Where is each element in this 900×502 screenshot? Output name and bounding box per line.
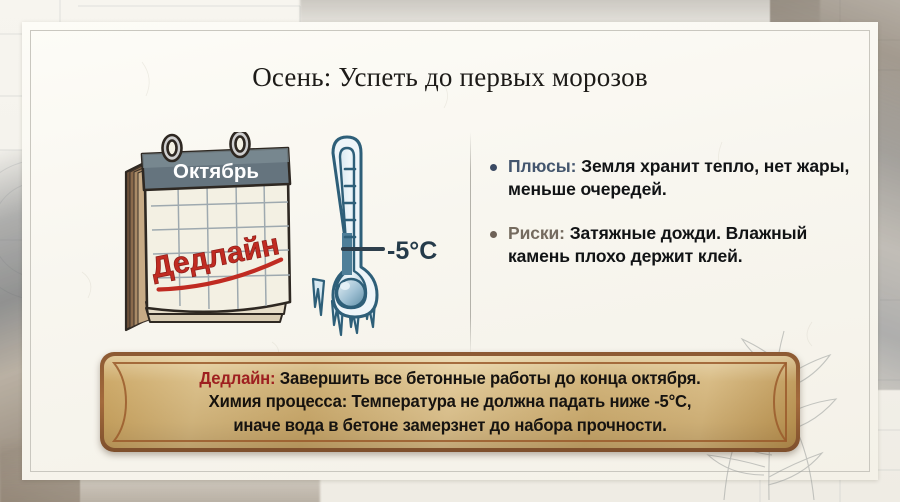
thermometer-illustration: -5°C [297, 129, 437, 339]
slide-stage: Осень: Успеть до первых морозов [0, 0, 900, 502]
plaque-face: Дедлайн: Завершить все бетонные работы д… [104, 356, 796, 448]
info-plaque: Дедлайн: Завершить все бетонные работы д… [100, 352, 800, 452]
plaque-line-3: иначе вода в бетоне замерзнет до набора … [233, 414, 666, 437]
plaque-deadline-label: Дедлайн: [199, 368, 275, 388]
plaque-chemistry-label: Химия процесса: [209, 391, 347, 411]
plaque-chemistry-text: Температура не должна падать ниже -5°C, [351, 391, 691, 411]
page-title: Осень: Успеть до первых морозов [22, 62, 878, 93]
bullet-dot-icon [490, 231, 497, 238]
list-item: Риски: Затяжные дожди. Влажный камень пл… [490, 222, 870, 269]
bullet-dot-icon [490, 164, 497, 171]
bullet-text: Плюсы: Земля хранит тепло, нет жары, мен… [508, 155, 870, 202]
bullet-lead-label: Плюсы: [508, 156, 576, 176]
bullet-text: Риски: Затяжные дожди. Влажный камень пл… [508, 222, 870, 269]
content-row: Октябрь Дедлайн [82, 127, 872, 362]
plaque-line-2: Химия процесса: Температура не должна па… [209, 390, 692, 413]
list-item: Плюсы: Земля хранит тепло, нет жары, мен… [490, 155, 870, 202]
plaque-text: Дедлайн: Завершить все бетонные работы д… [121, 356, 778, 448]
plaque-deadline-text: Завершить все бетонные работы до конца о… [280, 368, 701, 388]
illustration-group: Октябрь Дедлайн [82, 127, 467, 362]
calendar-month-label: Октябрь [173, 160, 259, 183]
thermometer-reading-label: -5°C [387, 237, 437, 265]
calendar-illustration: Октябрь Дедлайн [112, 132, 302, 337]
plaque-line-1: Дедлайн: Завершить все бетонные работы д… [199, 367, 700, 390]
bullet-list: Плюсы: Земля хранит тепло, нет жары, мен… [490, 155, 870, 288]
bullet-lead-label: Риски: [508, 223, 565, 243]
vertical-divider [470, 132, 471, 357]
